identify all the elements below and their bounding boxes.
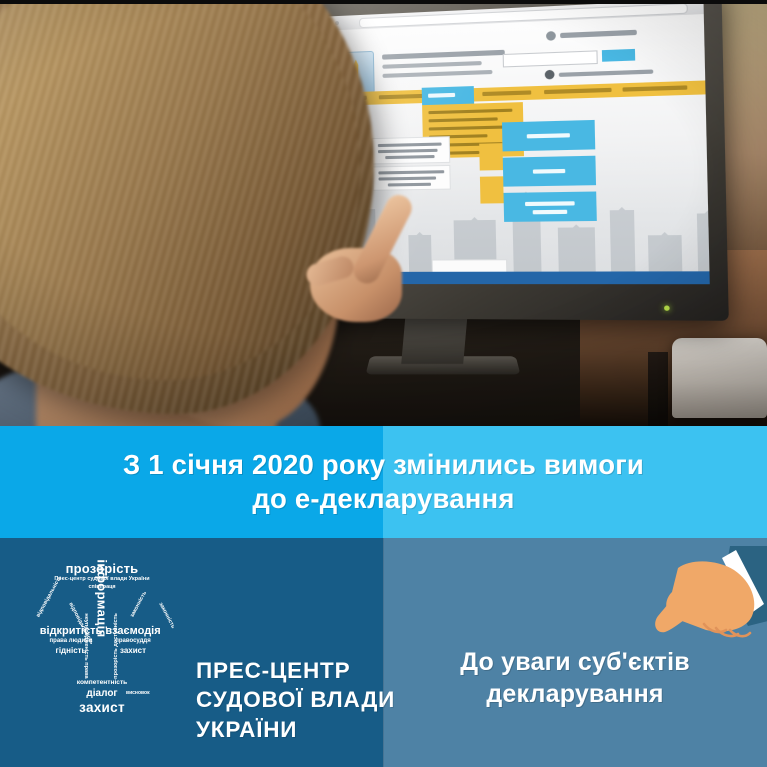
- site-subtitle-line-2: [382, 70, 492, 78]
- wc-word-dialoh: діалог: [22, 689, 182, 699]
- page-blue-button[interactable]: [504, 191, 597, 221]
- yellow-tab[interactable]: [480, 176, 504, 203]
- press-center-title-line-1: ПРЕС-ЦЕНТР: [196, 656, 395, 685]
- nav-item-active[interactable]: [422, 86, 474, 105]
- search-button[interactable]: [602, 49, 635, 62]
- site-subtitle-line: [382, 61, 481, 69]
- nav-item[interactable]: [544, 88, 612, 94]
- headline-line-2: до е-декларування: [252, 482, 514, 516]
- page-blue-button[interactable]: [502, 120, 595, 152]
- photo-top-edge: [0, 0, 767, 4]
- headline-banner: З 1 січня 2020 року змінились вимоги до …: [0, 426, 767, 538]
- wc-arc-right: законність: [129, 590, 148, 618]
- account-link[interactable]: [560, 30, 637, 38]
- cta-text: До уваги суб'єктів декларування: [460, 647, 690, 710]
- wc-word-dostupnist: прозорість доступність: [114, 602, 120, 690]
- office-chair: [672, 338, 767, 418]
- nav-item[interactable]: [482, 90, 531, 96]
- headline-text: З 1 січня 2020 року змінились вимоги до …: [0, 426, 767, 538]
- press-center-title-line-2: СУДОВОЇ ВЛАДИ: [196, 685, 395, 714]
- site-title-line: [382, 50, 505, 60]
- wc-word-zahyst-bottom: захист: [22, 701, 182, 715]
- wc-word-informatsiya: інформація: [96, 559, 109, 637]
- poster-root: З 1 січня 2020 року змінились вимоги до …: [0, 0, 767, 767]
- woman-pointing-hand: [300, 186, 420, 324]
- cta-line-2: декларування: [460, 679, 690, 711]
- cta-line-1: До уваги суб'єктів: [460, 647, 690, 679]
- register-link[interactable]: [559, 69, 654, 76]
- hand-palm: [310, 248, 402, 322]
- chair-stem: [648, 352, 668, 426]
- account-icon[interactable]: [546, 31, 556, 41]
- headline-line-1: З 1 січня 2020 року змінились вимоги: [123, 448, 644, 482]
- white-text-card: [372, 136, 451, 164]
- photo-region: [0, 0, 767, 426]
- footer-divider: [383, 538, 384, 767]
- search-input[interactable]: [503, 50, 598, 67]
- pointing-hand-icon: [652, 546, 767, 650]
- press-center-scales-wordcloud-logo: прозорість Прес-центр судової влади Укра…: [22, 562, 182, 722]
- register-icon[interactable]: [545, 70, 555, 80]
- wc-word-vysnovok: висновок: [126, 691, 150, 696]
- wc-word-neuperedzhenist: неупередженість права: [82, 602, 88, 690]
- yellow-tab[interactable]: [479, 143, 503, 170]
- press-center-title-line-3: УКРАЇНИ: [196, 715, 395, 744]
- nav-item[interactable]: [379, 94, 428, 100]
- press-center-title: ПРЕС-ЦЕНТР СУДОВОЇ ВЛАДИ УКРАЇНИ: [196, 656, 395, 744]
- page-blue-button[interactable]: [503, 156, 596, 187]
- wc-word-kompetentnist: компетентність: [22, 680, 182, 687]
- monitor-power-led: [664, 305, 670, 310]
- nav-item[interactable]: [623, 85, 688, 91]
